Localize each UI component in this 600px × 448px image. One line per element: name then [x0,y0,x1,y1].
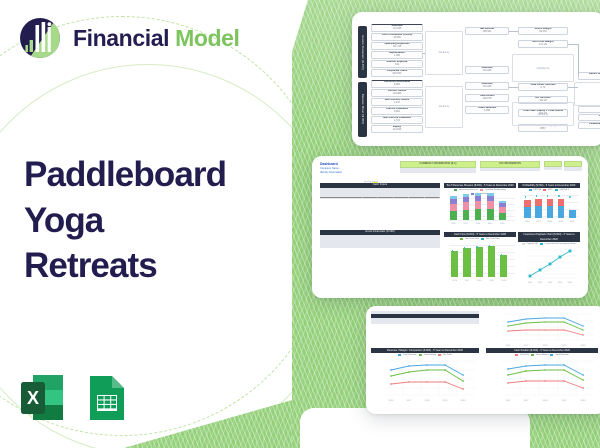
svg-text:2019: 2019 [562,400,568,402]
group-equity-ratio: divided by [512,102,574,126]
svg-text:2017: 2017 [524,400,530,402]
brand-word-model: Model [175,25,239,51]
dashboard-identify-info: Identify Information [320,171,342,175]
business-ratios-panel [544,161,562,170]
financial-charts-report-screenshot[interactable]: Revenue / Margin / Comparison ($ 000) - … [366,306,600,414]
svg-text:2020: 2020 [461,400,467,402]
line-plot: 20162017 20182019 2020 [371,357,479,403]
group-roa-bracket: multiplied by [574,82,600,106]
report-sheet: Revenue / Margin / Comparison ($ 000) - … [366,306,600,414]
node-net-income: Net Income185,521 [465,27,509,35]
payback-line-plot: 2016 2017 2018 2019 2020 [518,246,580,284]
node-financial-leverage-multiplier: Financial Leverage multiplier101.22 [578,122,600,129]
brand-name: Financial Model [73,25,240,52]
ebitda-comparison-line-chart: 20162017 20182019 2020 [486,311,598,347]
group-net-income-ratio: divided by [425,31,463,75]
band-income-statement: Income Statement ($ 000) [358,26,367,78]
svg-text:2019: 2019 [558,282,563,284]
node-leverage: Leverage1.052 [578,106,600,113]
node-revenue: Revenue131,635 [371,24,423,32]
band-balance-sheet: Balance Sheet ($ 000) [358,82,367,137]
node-current-ratio: Current Ratio12.63 [578,114,600,121]
node-interest-expense: Interest Expense619 [371,60,423,68]
cash-position-line-chart: Cash Position ($ 000) - 5 Years to Decem… [486,348,598,403]
node-accounts-receivable: Accounts Receivable8,981 [371,80,423,88]
tax-information-panel: TAX INFORMATION [480,161,540,171]
node-return-on-total-assets: Return on Total Assets (ROA)102% [578,72,600,80]
key-metrics-panel [564,161,582,171]
investment-payback-line: Investment Payback Chart ($ 000) - 5 Yea… [518,232,580,286]
google-sheets-icon[interactable] [85,373,131,423]
svg-text:2019: 2019 [443,400,449,402]
cash-inputs-table: Cash Inputs [320,183,440,199]
excel-icon-letter: X [27,388,39,408]
svg-text:2018: 2018 [543,345,549,347]
revenue-margin-comparison-line-chart: Revenue / Margin / Comparison ($ 000) - … [371,348,479,403]
group-margin-ratio: multiplied by [512,54,574,82]
line-plot: 20162017 20182019 2020 [486,311,598,347]
svg-text:2018: 2018 [425,400,431,402]
node-cost-of-revenue: Cost of Revenue (COGS)43,680 [371,33,423,41]
group-assets-ratio: divided by [425,86,463,128]
svg-text:2016: 2016 [506,400,512,402]
svg-text:2020: 2020 [568,282,573,284]
profitability-clustered-bar: Profitability ($ 000) - 5 Years to Decem… [518,183,580,227]
svg-text:2016: 2016 [528,282,533,284]
headline-line-1: Paddleboard [24,152,286,198]
svg-text:2018: 2018 [548,282,553,284]
gross-financials-table: Gross Financials ($ 000) [320,230,440,248]
revenue-breakdown-stacked-bar: Top 5 Revenue Streams ($ 000) - 5 Years … [444,183,516,227]
white-notch-decoration [300,408,530,448]
node-corporate-taxes: Corporate Taxes823,533 [371,69,423,77]
node-revenue-2: Revenue131,635 [465,66,509,74]
node-current-assets: Current Assets124,886 [371,89,423,97]
node-total-asset-turnover: Total Asset Turnover0.72 [518,83,568,91]
poster-canvas: Financial Model Paddleboard Yoga Retreat… [0,0,600,448]
node-total-liabilities: Total Liabilities5,968 [465,106,509,114]
node-net-profit-margin: Net Profit Margin141.1% [518,40,568,48]
svg-text:2019: 2019 [562,345,568,347]
file-format-icons: X [19,373,131,423]
financial-dashboard-screenshot[interactable]: Dashboard Company Name Identify Informat… [312,156,588,298]
report-assumptions-table [371,311,479,324]
brand-lockup: Financial Model [18,16,240,60]
currency-information-panel: CURRENCY INFORMATION ($ m) [400,161,476,173]
excel-icon[interactable]: X [19,373,65,423]
node-depreciation: Depreciation1,382 [371,51,423,59]
node-non-current-assets: Non-Current Assets2,247 [371,98,423,106]
cash-flow-bar: Cash Flow ($ 000) - 5 Years to December … [444,232,516,286]
node-non-current-liabilities: Non-Current Liabilities2,721 [371,116,423,124]
headline-line-3: Retreats [24,243,286,289]
svg-text:2017: 2017 [538,282,543,284]
flow-diagram: Income Statement ($ 000) Balance Sheet (… [352,12,600,146]
dashboard: Dashboard Company Name Identify Informat… [312,156,588,298]
node-revenue-3: Revenue131,635 [465,82,509,90]
svg-text:2020: 2020 [581,345,587,347]
svg-text:2016: 2016 [389,400,395,402]
node-equity: Equity114,520 [371,125,423,133]
svg-text:2016: 2016 [506,345,512,347]
circle-bar-chart-logo-icon [18,16,62,60]
page-title: Paddleboard Yoga Retreats [24,152,286,289]
node-operating-expenses: Operating Expenses111,748 [371,42,423,50]
dupont-flow-diagram-screenshot[interactable]: Income Statement ($ 000) Balance Sheet (… [352,12,600,146]
brand-word-financial: Financial [73,25,169,51]
line-plot: 20162017 20182019 2020 [486,357,598,403]
svg-text:2017: 2017 [524,345,530,347]
headline-line-2: Yoga [24,198,286,244]
svg-text:2018: 2018 [543,400,549,402]
node-current-liabilities: Current Liabilities9,891 [371,107,423,115]
node-total-assets: Total Assets182,578 [465,94,509,102]
node-gross-margin: Gross margin64,234 [518,27,568,35]
svg-text:2020: 2020 [581,400,587,402]
svg-text:2017: 2017 [407,400,413,402]
